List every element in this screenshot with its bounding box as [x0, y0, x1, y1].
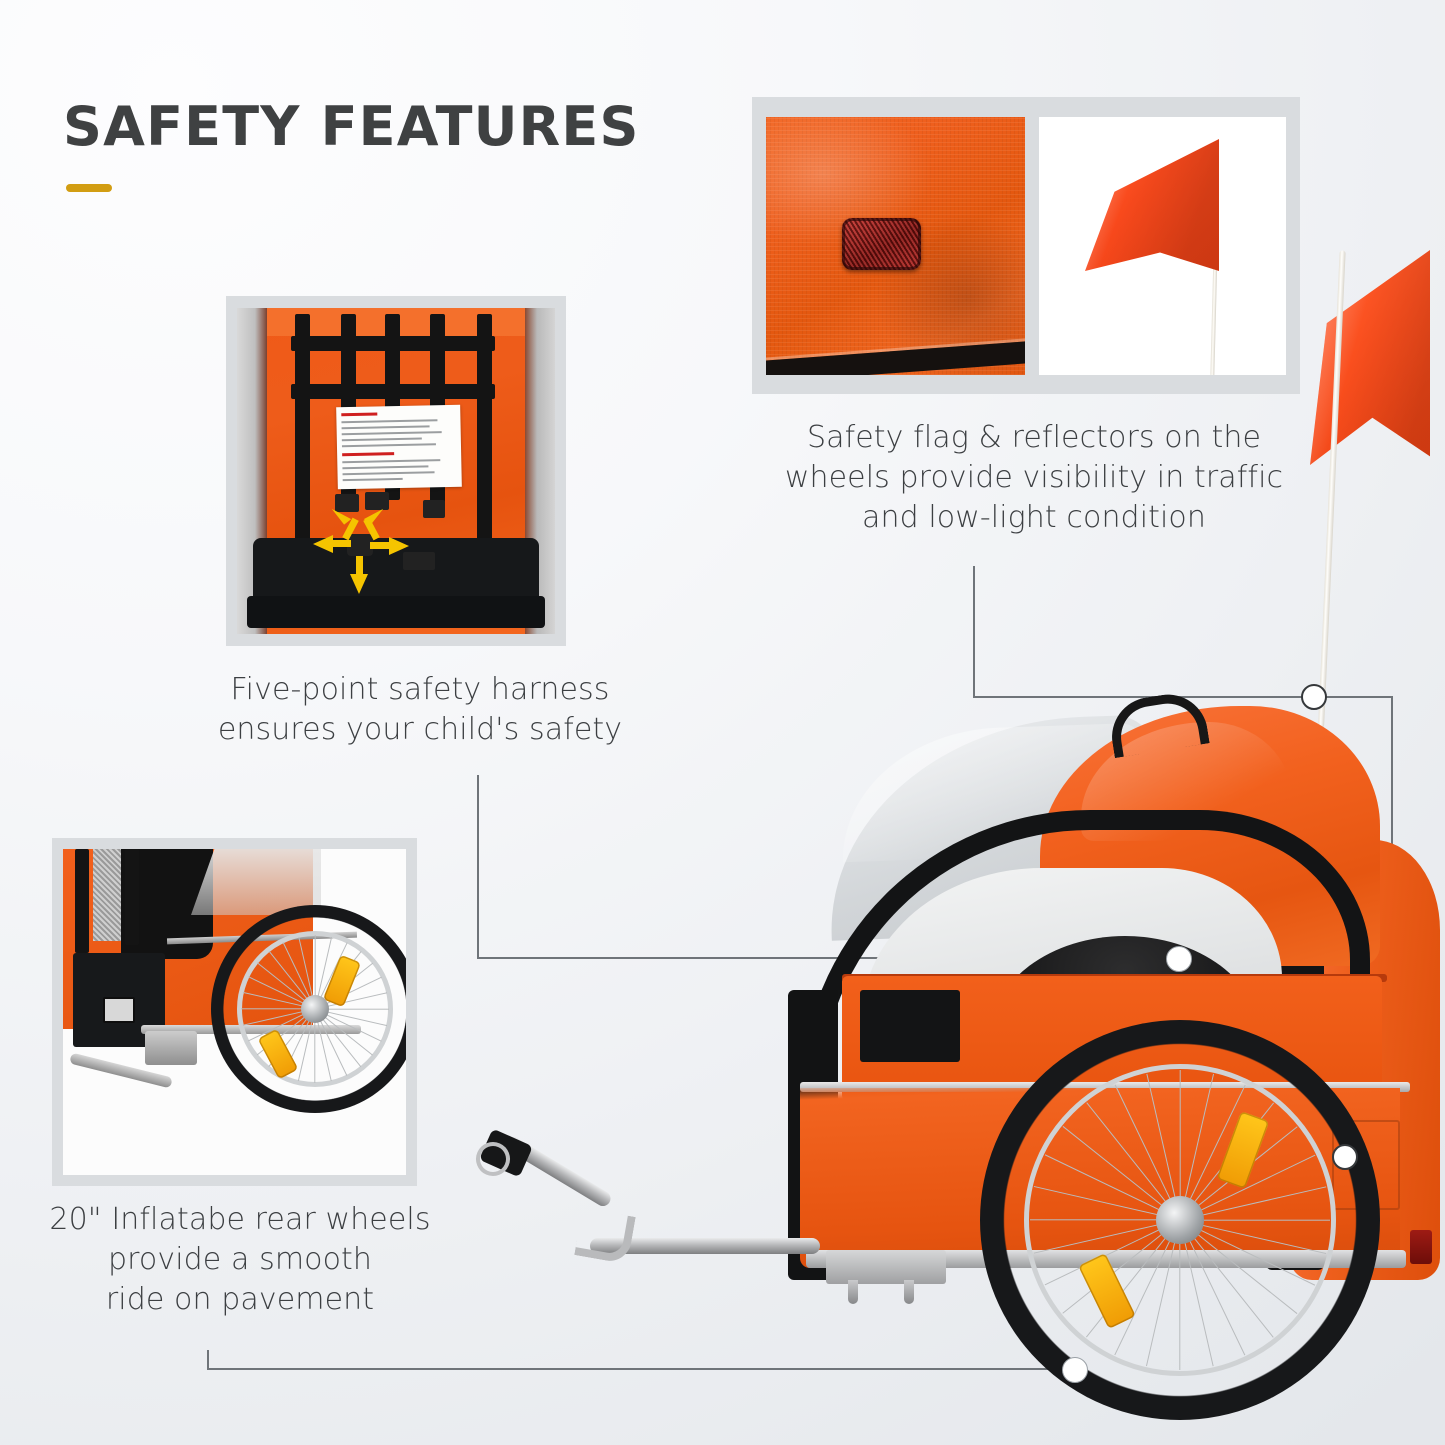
leader-flag-vertical	[973, 566, 975, 698]
marker-rear-wheel[interactable]	[1062, 1357, 1088, 1383]
caption-line: ride on pavement	[30, 1280, 450, 1320]
safety-pin	[904, 1280, 914, 1304]
flag-photo	[1039, 117, 1286, 375]
inset-frame-rear-wheel	[52, 838, 417, 1186]
caption-line: provide a smooth	[30, 1240, 450, 1280]
arrow-down-icon	[350, 574, 368, 594]
inset-frame-harness	[226, 296, 566, 646]
caption-rear-wheels: 20" Inflatabe rear wheels provide a smoo…	[30, 1200, 450, 1321]
harness-buckle	[423, 500, 445, 518]
axle-mount-plate	[826, 1250, 946, 1284]
harness-photo	[237, 308, 555, 634]
rear-wheel-assembly	[980, 1020, 1380, 1420]
marker-harness-seat[interactable]	[1166, 946, 1192, 972]
page-title: SAFETY FEATURES	[63, 95, 640, 158]
wheel-hub	[1156, 1196, 1204, 1244]
infographic-canvas: SAFETY FEATURES Safety flag & reflectors…	[0, 0, 1445, 1445]
seat-strap	[125, 849, 139, 945]
hitch-bracket	[145, 1031, 197, 1065]
caption-flag-reflectors: Safety flag & reflectors on the wheels p…	[760, 418, 1308, 539]
product-illustration	[470, 690, 1445, 1410]
safety-flag-cloth	[1310, 250, 1430, 465]
rear-red-reflector	[1410, 1230, 1432, 1264]
caption-line: 20" Inflatabe rear wheels	[30, 1200, 450, 1240]
caption-line: and low-light condition	[760, 498, 1308, 538]
marker-flag-base[interactable]	[1301, 684, 1327, 710]
tow-bar-elbow	[574, 1208, 636, 1265]
reflector-photo	[766, 117, 1025, 375]
title-accent-bar	[66, 184, 112, 192]
red-reflector-icon	[842, 218, 921, 270]
harness-strap	[291, 384, 495, 399]
instruction-label	[336, 405, 462, 490]
caption-line: Safety flag & reflectors on the	[760, 418, 1308, 458]
reflective-patch	[103, 997, 135, 1023]
marker-rear-reflector[interactable]	[1332, 1144, 1358, 1170]
rear-wheel-photo	[63, 849, 406, 1175]
arrow-left-icon	[313, 535, 333, 553]
seat-side-pocket	[860, 990, 960, 1062]
arrow-right-icon	[389, 537, 409, 555]
inset-frame-flag-reflector	[752, 97, 1300, 394]
harness-strap	[291, 336, 495, 351]
seat-strap	[75, 849, 89, 953]
safety-pin	[848, 1280, 858, 1304]
trailer-floor	[247, 596, 545, 628]
caption-line: wheels provide visibility in traffic	[760, 458, 1308, 498]
leader-wheels-vertical	[207, 1350, 209, 1370]
